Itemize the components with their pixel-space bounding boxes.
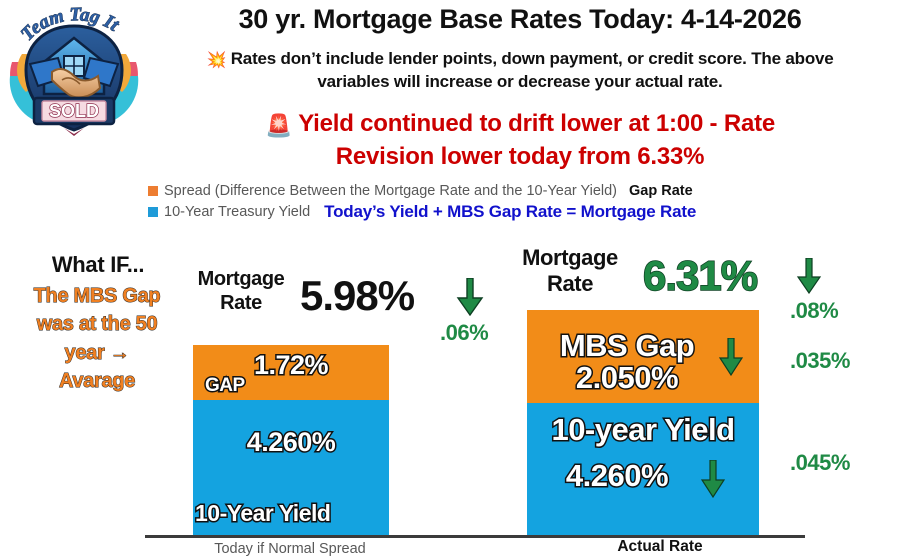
what-if-line-3: year bbox=[65, 342, 105, 364]
logo-sold-text: SOLD bbox=[49, 101, 99, 121]
what-if-body: The MBS Gap was at the 50 year → Avarage bbox=[6, 282, 188, 396]
what-if-heading: What IF... bbox=[14, 252, 182, 278]
right-mortgage-rate-delta: .08% bbox=[790, 298, 838, 324]
gap-rate-label: Gap Rate bbox=[629, 183, 693, 199]
right-down-arrow-icon bbox=[796, 258, 822, 294]
alert-line-2: Revision lower today from 6.33% bbox=[336, 143, 705, 170]
left-mortgage-rate-value: 5.98% bbox=[300, 272, 414, 320]
legend-label-yield: 10-Year Treasury Yield bbox=[164, 204, 310, 220]
alert-line-1: Yield continued to drift lower at 1:00 -… bbox=[298, 110, 775, 137]
legend-item-spread: Spread (Difference Between the Mortgage … bbox=[148, 180, 900, 201]
left-gap-name: GAP bbox=[205, 375, 245, 397]
alert-banner: 🚨 Yield continued to drift lower at 1:00… bbox=[150, 108, 890, 173]
team-tag-it-logo: SOLD Team Tag It bbox=[4, 2, 144, 152]
what-if-line-1: The MBS Gap bbox=[34, 285, 161, 307]
left-mortgage-rate-delta: .06% bbox=[440, 320, 488, 346]
what-if-line-2: was at the 50 bbox=[37, 313, 158, 335]
right-gap-delta: .035% bbox=[790, 348, 850, 374]
left-down-arrow-icon bbox=[455, 278, 485, 316]
disclaimer-text: 💥 Rates don’t include lender points, dow… bbox=[170, 48, 870, 94]
right-gap-name: MBS Gap bbox=[527, 328, 727, 364]
siren-icon: 🚨 bbox=[265, 113, 292, 138]
right-yield-delta: .045% bbox=[790, 450, 850, 476]
chart-legend: Spread (Difference Between the Mortgage … bbox=[148, 180, 900, 222]
right-mortgage-rate-value: 6.31% bbox=[643, 252, 757, 300]
legend-swatch-yield bbox=[148, 207, 158, 217]
legend-label-spread: Spread (Difference Between the Mortgage … bbox=[164, 183, 617, 199]
disclaimer-label: Rates don’t include lender points, down … bbox=[231, 49, 834, 91]
legend-item-yield: 10-Year Treasury Yield Today’s Yield + M… bbox=[148, 201, 900, 222]
right-yield-down-arrow-icon bbox=[700, 460, 726, 498]
boom-icon: 💥 bbox=[206, 52, 226, 69]
formula-text: Today’s Yield + MBS Gap Rate = Mortgage … bbox=[324, 202, 696, 222]
what-if-line-4: Avarage bbox=[59, 370, 135, 392]
left-yield-value: 4.260% bbox=[193, 427, 389, 458]
legend-swatch-spread bbox=[148, 186, 158, 196]
right-mortgage-rate-label: Mortgage Rate bbox=[505, 245, 635, 298]
category-label-left: Today if Normal Spread bbox=[180, 541, 400, 557]
left-mortgage-rate-label: Mortgage Rate bbox=[186, 268, 296, 315]
right-yield-value: 4.260% bbox=[527, 458, 707, 494]
infographic-canvas: SOLD Team Tag It 30 yr. Mortgage Base Ra… bbox=[0, 0, 900, 560]
page-title: 30 yr. Mortgage Base Rates Today: 4-14-2… bbox=[140, 4, 900, 35]
right-gap-down-arrow-icon bbox=[718, 338, 744, 376]
right-arrow-icon: → bbox=[110, 342, 130, 364]
right-yield-name: 10-year Yield bbox=[527, 412, 759, 448]
left-yield-name: 10-Year Yield bbox=[195, 500, 330, 527]
right-gap-value: 2.050% bbox=[527, 360, 727, 396]
category-label-right: Actual Rate bbox=[540, 538, 780, 556]
